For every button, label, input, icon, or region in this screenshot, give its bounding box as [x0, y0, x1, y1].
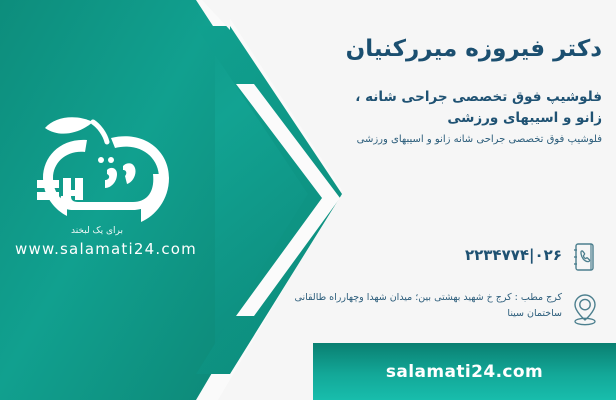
logo-url[interactable]: www.salamati24.com — [8, 240, 204, 258]
page-title: دکتر فیروزه میررکنیان — [226, 34, 602, 65]
phone-number[interactable]: ۰۲۶|۲۲۳۴۷۷۴ — [220, 238, 562, 272]
address-line-2: ساختمان سینا — [220, 306, 562, 322]
contact-block: ۰۲۶|۲۲۳۴۷۷۴ کرج مطب : کرج خ شهید بهشتی ب… — [220, 238, 602, 342]
specialty-line-2: زانو و اسیبهای ورزشی — [226, 108, 602, 129]
contact-row-phone[interactable]: ۰۲۶|۲۲۳۴۷۷۴ — [220, 238, 602, 276]
business-card: برای یک لبخند www.salamati24.com دکتر فی… — [0, 0, 616, 400]
specialty-line-1: فلوشیپ فوق تخصصی جراحی شانه ، — [226, 87, 602, 108]
doctor-info: دکتر فیروزه میررکنیان فلوشیپ فوق تخصصی ج… — [226, 34, 602, 147]
footer-bar: salamati24.com — [313, 343, 616, 400]
salamati24-apple-logo-icon — [15, 108, 197, 238]
logo-block: برای یک لبخند www.salamati24.com — [8, 108, 204, 258]
specialty-subtext: فلوشیپ فوق تخصصی جراحی شانه زانو و اسیبه… — [226, 132, 602, 147]
footer-website[interactable]: salamati24.com — [386, 362, 543, 382]
logo-tagline: برای یک لبخند — [8, 226, 186, 236]
map-pin-icon — [568, 290, 602, 328]
address-line-1: کرج مطب : کرج خ شهید بهشتی بین؛ میدان شه… — [220, 290, 562, 306]
phone-book-icon — [568, 238, 602, 276]
address-text-wrap: کرج مطب : کرج خ شهید بهشتی بین؛ میدان شه… — [220, 290, 568, 321]
phone-text-wrap: ۰۲۶|۲۲۳۴۷۷۴ — [220, 238, 568, 272]
contact-row-address[interactable]: کرج مطب : کرج خ شهید بهشتی بین؛ میدان شه… — [220, 290, 602, 328]
